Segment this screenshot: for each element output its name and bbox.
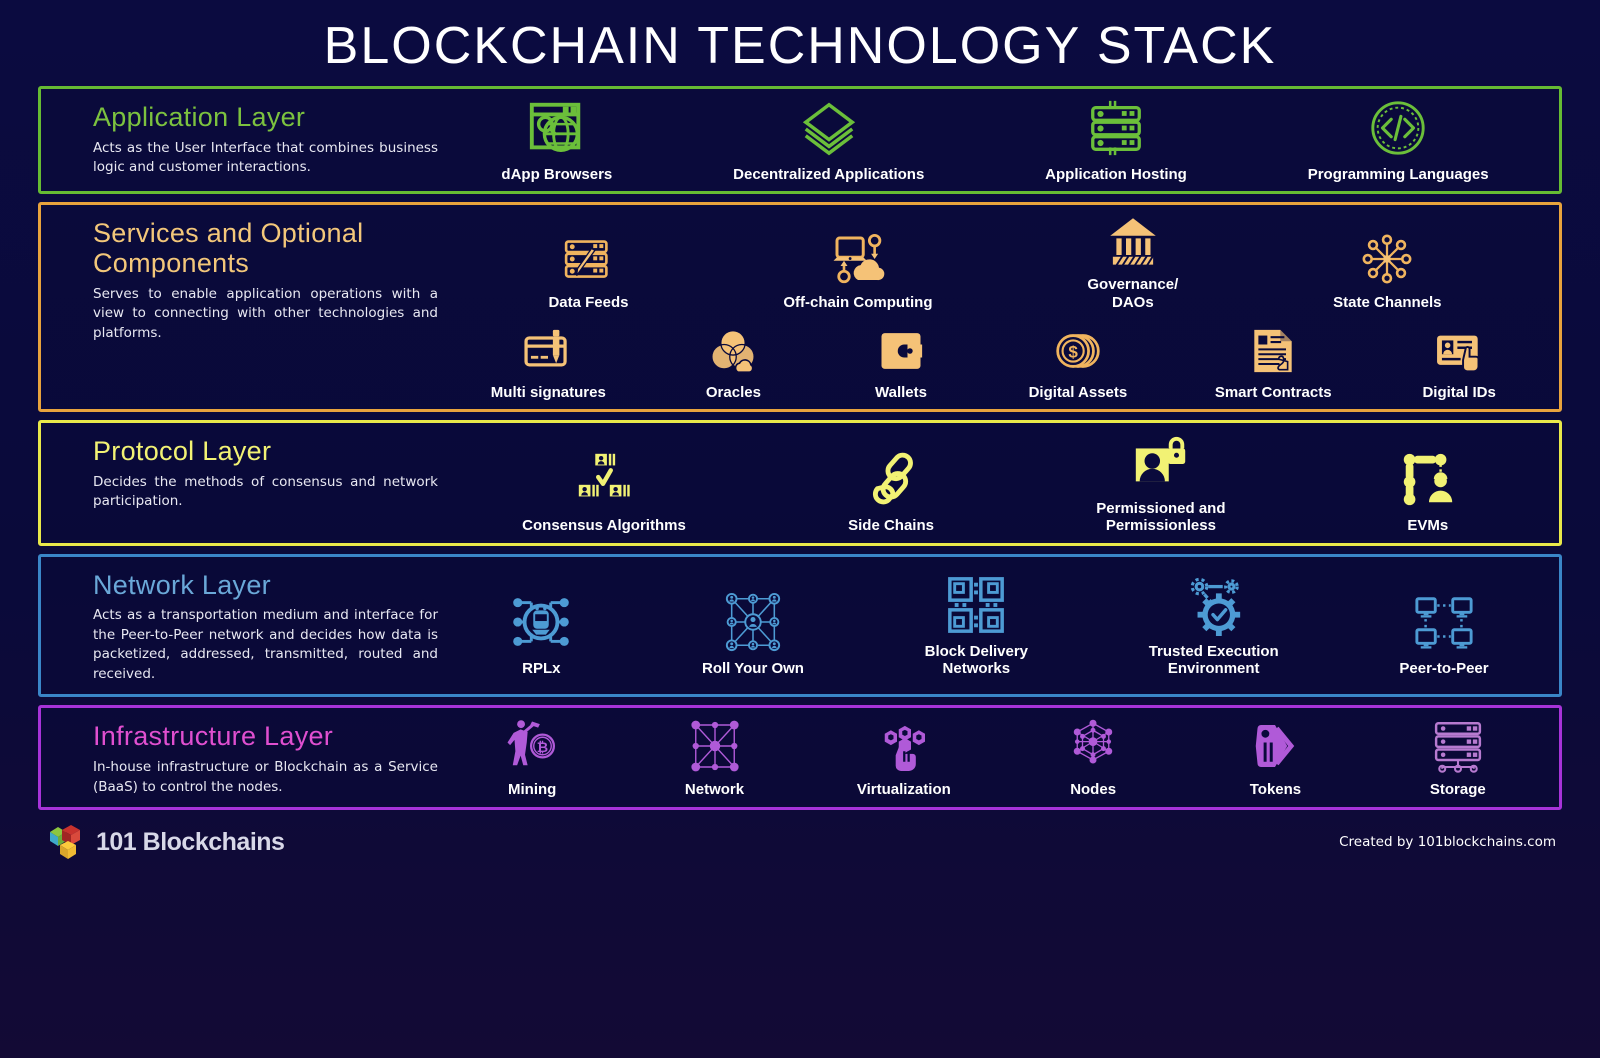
layer-services: Services and Optional Components Serves … <box>38 202 1562 412</box>
item-state-channels[interactable]: State Channels <box>1333 231 1441 311</box>
item-side-chains[interactable]: Side Chains <box>848 448 934 534</box>
item-data-feeds[interactable]: Data Feeds <box>548 231 628 311</box>
icon-row: RPLx <box>441 574 1549 678</box>
contract-document-icon <box>1247 325 1299 377</box>
node-mesh-icon <box>687 718 743 774</box>
item-label: Consensus Algorithms <box>522 517 686 534</box>
item-label: dApp Browsers <box>501 166 612 183</box>
layer-infrastructure-description: In-house infrastructure or Blockchain as… <box>93 758 438 797</box>
layer-network: Network Layer Acts as a transportation m… <box>38 554 1562 698</box>
item-peer-to-peer[interactable]: Peer-to-Peer <box>1399 591 1488 677</box>
radial-nodes-icon <box>1359 231 1415 287</box>
server-rack-icon <box>1085 97 1147 159</box>
item-label: Trusted Execution Environment <box>1149 643 1279 678</box>
layer-application-text: Application Layer Acts as the User Inter… <box>41 89 441 191</box>
layer-infrastructure-text: Infrastructure Layer In-house infrastruc… <box>41 708 441 807</box>
item-nodes[interactable]: Nodes <box>1053 718 1133 798</box>
chain-links-icon <box>860 448 922 510</box>
item-label: EVMs <box>1407 517 1448 534</box>
item-virtualization[interactable]: Virtualization <box>857 718 951 798</box>
code-brackets-circle-icon <box>1367 97 1429 159</box>
layer-protocol-text: Protocol Layer Decides the methods of co… <box>41 423 441 543</box>
layer-protocol-description: Decides the methods of consensus and net… <box>93 473 438 512</box>
venn-cloud-icon <box>707 325 759 377</box>
blockchain-cubes-logo-icon <box>46 824 86 860</box>
layer-network-description: Acts as a transportation medium and inte… <box>93 606 438 684</box>
token-tag-icon <box>1247 718 1303 774</box>
layer-infrastructure: Infrastructure Layer In-house infrastruc… <box>38 705 1562 810</box>
hexagon-hand-icon <box>876 718 932 774</box>
item-smart-contracts[interactable]: Smart Contracts <box>1215 325 1332 401</box>
brand-logo[interactable]: 101 Blockchains <box>46 824 284 860</box>
item-label: Block Delivery Networks <box>925 643 1028 678</box>
miner-bitcoin-icon: ₿ <box>504 718 560 774</box>
card-signature-icon <box>522 325 574 377</box>
item-label: Multi signatures <box>491 384 606 401</box>
item-offchain-computing[interactable]: Off-chain Computing <box>783 231 932 311</box>
layer-application-title: Application Layer <box>93 103 441 133</box>
item-trusted-execution-environment[interactable]: Trusted Execution Environment <box>1149 574 1279 678</box>
icon-row: ₿ Mining <box>441 718 1549 798</box>
node-cluster-icon <box>1065 718 1121 774</box>
bank-columns-icon <box>1105 213 1161 269</box>
item-label: Nodes <box>1070 781 1116 798</box>
item-label: State Channels <box>1333 294 1441 311</box>
layer-infrastructure-icons: ₿ Mining <box>441 708 1559 807</box>
dapp-browser-icon <box>526 97 588 159</box>
item-label: Off-chain Computing <box>783 294 932 311</box>
credit-text: Created by 101blockchains.com <box>1339 834 1556 850</box>
item-mining[interactable]: ₿ Mining <box>492 718 572 798</box>
layer-infrastructure-title: Infrastructure Layer <box>93 722 441 752</box>
layer-application: Application Layer Acts as the User Inter… <box>38 86 1562 194</box>
item-multi-signatures[interactable]: Multi signatures <box>491 325 606 401</box>
item-governance-daos[interactable]: Governance/ DAOs <box>1087 213 1178 311</box>
item-label: Decentralized Applications <box>733 166 924 183</box>
item-block-delivery-networks[interactable]: Block Delivery Networks <box>925 574 1028 678</box>
item-label: Governance/ DAOs <box>1087 276 1178 311</box>
layer-network-text: Network Layer Acts as a transportation m… <box>41 557 441 695</box>
layers-stack-icon <box>798 97 860 159</box>
item-roll-your-own[interactable]: Roll Your Own <box>702 591 804 677</box>
item-rplx[interactable]: RPLx <box>501 591 581 677</box>
item-label: Digital Assets <box>1029 384 1128 401</box>
item-digital-assets[interactable]: $ Digital Assets <box>1029 325 1128 401</box>
item-consensus-algorithms[interactable]: Consensus Algorithms <box>522 448 686 534</box>
item-decentralized-applications[interactable]: Decentralized Applications <box>733 97 924 183</box>
item-dapp-browsers[interactable]: dApp Browsers <box>501 97 612 183</box>
four-monitors-icon <box>1413 591 1475 653</box>
wallet-icon <box>875 325 927 377</box>
brand-name: 101 Blockchains <box>96 828 284 857</box>
item-label: Digital IDs <box>1422 384 1495 401</box>
icon-row: dApp Browsers Decentralized Applications <box>441 97 1549 183</box>
user-lock-icon <box>1130 431 1192 493</box>
id-card-hand-icon <box>1433 325 1485 377</box>
item-storage[interactable]: Storage <box>1418 718 1498 798</box>
item-label: Smart Contracts <box>1215 384 1332 401</box>
item-label: RPLx <box>522 660 560 677</box>
server-pencil-icon <box>560 231 616 287</box>
footer: 101 Blockchains Created by 101blockchain… <box>0 818 1600 860</box>
icon-row: Consensus Algorithms Side Chains <box>441 431 1549 535</box>
qr-blocks-icon <box>945 574 1007 636</box>
item-label: Peer-to-Peer <box>1399 660 1488 677</box>
item-label: Roll Your Own <box>702 660 804 677</box>
train-network-icon <box>510 591 572 653</box>
icon-row: Data Feeds <box>441 213 1549 325</box>
item-label: Network <box>685 781 744 798</box>
svg-text:₿: ₿ <box>537 739 548 755</box>
page-title: BLOCKCHAIN TECHNOLOGY STACK <box>0 0 1600 86</box>
layer-services-description: Serves to enable application operations … <box>93 285 438 344</box>
layer-network-icons: RPLx <box>441 557 1559 695</box>
mesh-users-icon <box>722 591 784 653</box>
item-label: Permissioned and Permissionless <box>1096 500 1225 535</box>
item-permissioned-permissionless[interactable]: Permissioned and Permissionless <box>1096 431 1225 535</box>
item-label: Storage <box>1430 781 1486 798</box>
item-programming-languages[interactable]: Programming Languages <box>1308 97 1489 183</box>
item-label: Wallets <box>875 384 927 401</box>
layer-services-text: Services and Optional Components Serves … <box>41 205 441 409</box>
item-tokens[interactable]: Tokens <box>1235 718 1315 798</box>
storage-servers-icon <box>1430 718 1486 774</box>
item-label: Oracles <box>706 384 761 401</box>
laptop-cloud-icon <box>830 231 886 287</box>
infographic-page: BLOCKCHAIN TECHNOLOGY STACK Application … <box>0 0 1600 1058</box>
layer-services-icons: Data Feeds <box>441 205 1559 409</box>
robot-arm-worker-icon <box>1397 448 1459 510</box>
item-oracles[interactable]: Oracles <box>693 325 773 401</box>
layer-network-title: Network Layer <box>93 571 441 601</box>
item-label: Programming Languages <box>1308 166 1489 183</box>
layer-protocol: Protocol Layer Decides the methods of co… <box>38 420 1562 546</box>
item-evms[interactable]: EVMs <box>1388 448 1468 534</box>
layer-application-description: Acts as the User Interface that combines… <box>93 139 438 178</box>
item-digital-ids[interactable]: Digital IDs <box>1419 325 1499 401</box>
item-label: Virtualization <box>857 781 951 798</box>
item-application-hosting[interactable]: Application Hosting <box>1045 97 1187 183</box>
consensus-nodes-check-icon <box>573 448 635 510</box>
coins-dollar-icon: $ <box>1052 325 1104 377</box>
item-label: Tokens <box>1250 781 1301 798</box>
svg-text:$: $ <box>1068 342 1078 361</box>
item-label: Data Feeds <box>548 294 628 311</box>
layer-application-icons: dApp Browsers Decentralized Applications <box>441 89 1559 191</box>
item-label: Side Chains <box>848 517 934 534</box>
icon-row: Multi signatures O <box>441 325 1549 401</box>
gears-check-icon <box>1183 574 1245 636</box>
item-label: Mining <box>508 781 556 798</box>
layer-protocol-title: Protocol Layer <box>93 437 441 467</box>
item-wallets[interactable]: Wallets <box>861 325 941 401</box>
layer-protocol-icons: Consensus Algorithms Side Chains <box>441 423 1559 543</box>
item-label: Application Hosting <box>1045 166 1187 183</box>
layer-services-title: Services and Optional Components <box>93 219 441 278</box>
item-network[interactable]: Network <box>675 718 755 798</box>
